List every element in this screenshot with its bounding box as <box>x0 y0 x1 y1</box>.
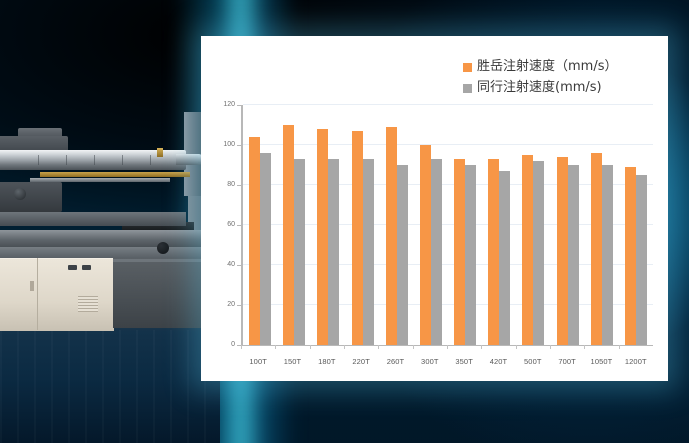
x-tick <box>413 345 414 349</box>
y-tick <box>237 145 242 146</box>
photo-floor-reflection <box>0 330 220 443</box>
x-axis-labels: 100T150T180T220T260T300T350T420T500T700T… <box>241 348 653 369</box>
bar-group <box>482 105 516 345</box>
y-tick-label: 80 <box>213 181 235 188</box>
bar-group <box>619 105 653 345</box>
chart-legend: 胜岳注射速度（mm/s） 同行注射速度(mm/s) <box>463 60 658 103</box>
x-tick <box>241 345 242 349</box>
x-tick <box>378 345 379 349</box>
bar-shengyue[interactable] <box>522 155 533 345</box>
x-label-cell: 500T <box>516 348 550 369</box>
x-tick-label: 150T <box>284 357 302 366</box>
y-tick-label: 120 <box>213 101 235 108</box>
bar-group <box>311 105 345 345</box>
bar-shengyue[interactable] <box>249 137 260 345</box>
bar-peer[interactable] <box>294 159 305 345</box>
x-tick-label: 700T <box>558 357 576 366</box>
x-tick <box>481 345 482 349</box>
x-tick <box>550 345 551 349</box>
machine-button-left <box>68 265 77 270</box>
x-tick-label: 180T <box>318 357 336 366</box>
machine-tie-rod <box>40 172 190 177</box>
x-tick <box>344 345 345 349</box>
x-tick-label: 350T <box>455 357 473 366</box>
bar-peer[interactable] <box>568 165 579 345</box>
bar-shengyue[interactable] <box>317 129 328 345</box>
y-tick <box>237 225 242 226</box>
bar-peer[interactable] <box>636 175 647 345</box>
bar-group <box>346 105 380 345</box>
bar-shengyue[interactable] <box>352 131 363 345</box>
bar-peer[interactable] <box>499 171 510 345</box>
y-tick-label: 20 <box>213 301 235 308</box>
bar-shengyue[interactable] <box>420 145 431 345</box>
y-tick-label: 40 <box>213 261 235 268</box>
bar-peer[interactable] <box>431 159 442 345</box>
x-tick <box>516 345 517 349</box>
x-label-cell: 300T <box>413 348 447 369</box>
bar-shengyue[interactable] <box>625 167 636 345</box>
slide-canvas: 胜岳注射速度（mm/s） 同行注射速度(mm/s) 02040608010012… <box>0 0 689 443</box>
machine-hopper-port <box>14 188 26 200</box>
bar-chart: 胜岳注射速度（mm/s） 同行注射速度(mm/s) 02040608010012… <box>201 36 668 381</box>
x-label-cell: 220T <box>344 348 378 369</box>
x-tick <box>310 345 311 349</box>
x-label-cell: 150T <box>275 348 309 369</box>
x-tick-label: 1200T <box>625 357 647 366</box>
y-tick-label: 60 <box>213 221 235 228</box>
machine-cabinet <box>0 258 114 331</box>
x-tick <box>619 345 620 349</box>
x-label-cell: 350T <box>447 348 481 369</box>
bar-peer[interactable] <box>602 165 613 345</box>
legend-swatch-orange <box>463 63 472 72</box>
legend-item-shengyue[interactable]: 胜岳注射速度（mm/s） <box>463 60 658 74</box>
machine-knob <box>157 242 169 254</box>
x-tick-label: 1050T <box>591 357 613 366</box>
machine-button-right <box>82 265 91 270</box>
bar-group <box>414 105 448 345</box>
machine-fitting <box>157 148 163 157</box>
bar-group <box>516 105 550 345</box>
machine-hopper-block <box>0 182 62 212</box>
y-tick <box>237 265 242 266</box>
x-label-cell: 700T <box>550 348 584 369</box>
x-tick <box>275 345 276 349</box>
bar-peer[interactable] <box>465 165 476 345</box>
y-tick-label: 100 <box>213 141 235 148</box>
bar-shengyue[interactable] <box>283 125 294 345</box>
bar-group <box>380 105 414 345</box>
x-tick-label: 300T <box>421 357 439 366</box>
machine-vent-grille <box>78 296 98 312</box>
plot-area <box>243 105 653 345</box>
bar-shengyue[interactable] <box>454 159 465 345</box>
x-label-cell: 1200T <box>619 348 653 369</box>
machine-cabinet-seam <box>37 258 38 330</box>
machine-handle <box>30 281 34 291</box>
bar-peer[interactable] <box>397 165 408 345</box>
y-tick <box>237 305 242 306</box>
machine-carriage <box>0 212 186 226</box>
x-label-cell: 260T <box>378 348 412 369</box>
bar-group <box>277 105 311 345</box>
bar-group <box>551 105 585 345</box>
x-label-cell: 1050T <box>584 348 618 369</box>
bar-group <box>585 105 619 345</box>
machine-safety-guard <box>113 258 213 328</box>
legend-label-peer: 同行注射速度(mm/s) <box>477 81 602 95</box>
x-label-cell: 420T <box>481 348 515 369</box>
x-tick <box>584 345 585 349</box>
x-tick-label: 420T <box>490 357 508 366</box>
legend-item-peer[interactable]: 同行注射速度(mm/s) <box>463 81 658 95</box>
legend-swatch-gray <box>463 84 472 93</box>
bar-shengyue[interactable] <box>591 153 602 345</box>
bar-peer[interactable] <box>533 161 544 345</box>
x-tick-label: 220T <box>352 357 370 366</box>
bar-shengyue[interactable] <box>386 127 397 345</box>
bar-series-container <box>243 105 653 345</box>
y-tick <box>237 185 242 186</box>
bar-group <box>448 105 482 345</box>
machine-guard-edge <box>113 259 213 262</box>
x-tick <box>447 345 448 349</box>
bar-shengyue[interactable] <box>557 157 568 345</box>
x-label-cell: 180T <box>310 348 344 369</box>
x-tick-label: 500T <box>524 357 542 366</box>
bar-peer[interactable] <box>260 153 271 345</box>
y-tick-label: 0 <box>213 341 235 348</box>
bar-peer[interactable] <box>328 159 339 345</box>
x-label-cell: 100T <box>241 348 275 369</box>
x-tick-label: 100T <box>249 357 267 366</box>
bar-peer[interactable] <box>363 159 374 345</box>
chart-panel: 胜岳注射速度（mm/s） 同行注射速度(mm/s) 02040608010012… <box>201 36 668 381</box>
bar-group <box>243 105 277 345</box>
y-tick <box>237 105 242 106</box>
x-tick-label: 260T <box>387 357 405 366</box>
legend-label-shengyue: 胜岳注射速度（mm/s） <box>477 60 617 74</box>
bar-shengyue[interactable] <box>488 159 499 345</box>
